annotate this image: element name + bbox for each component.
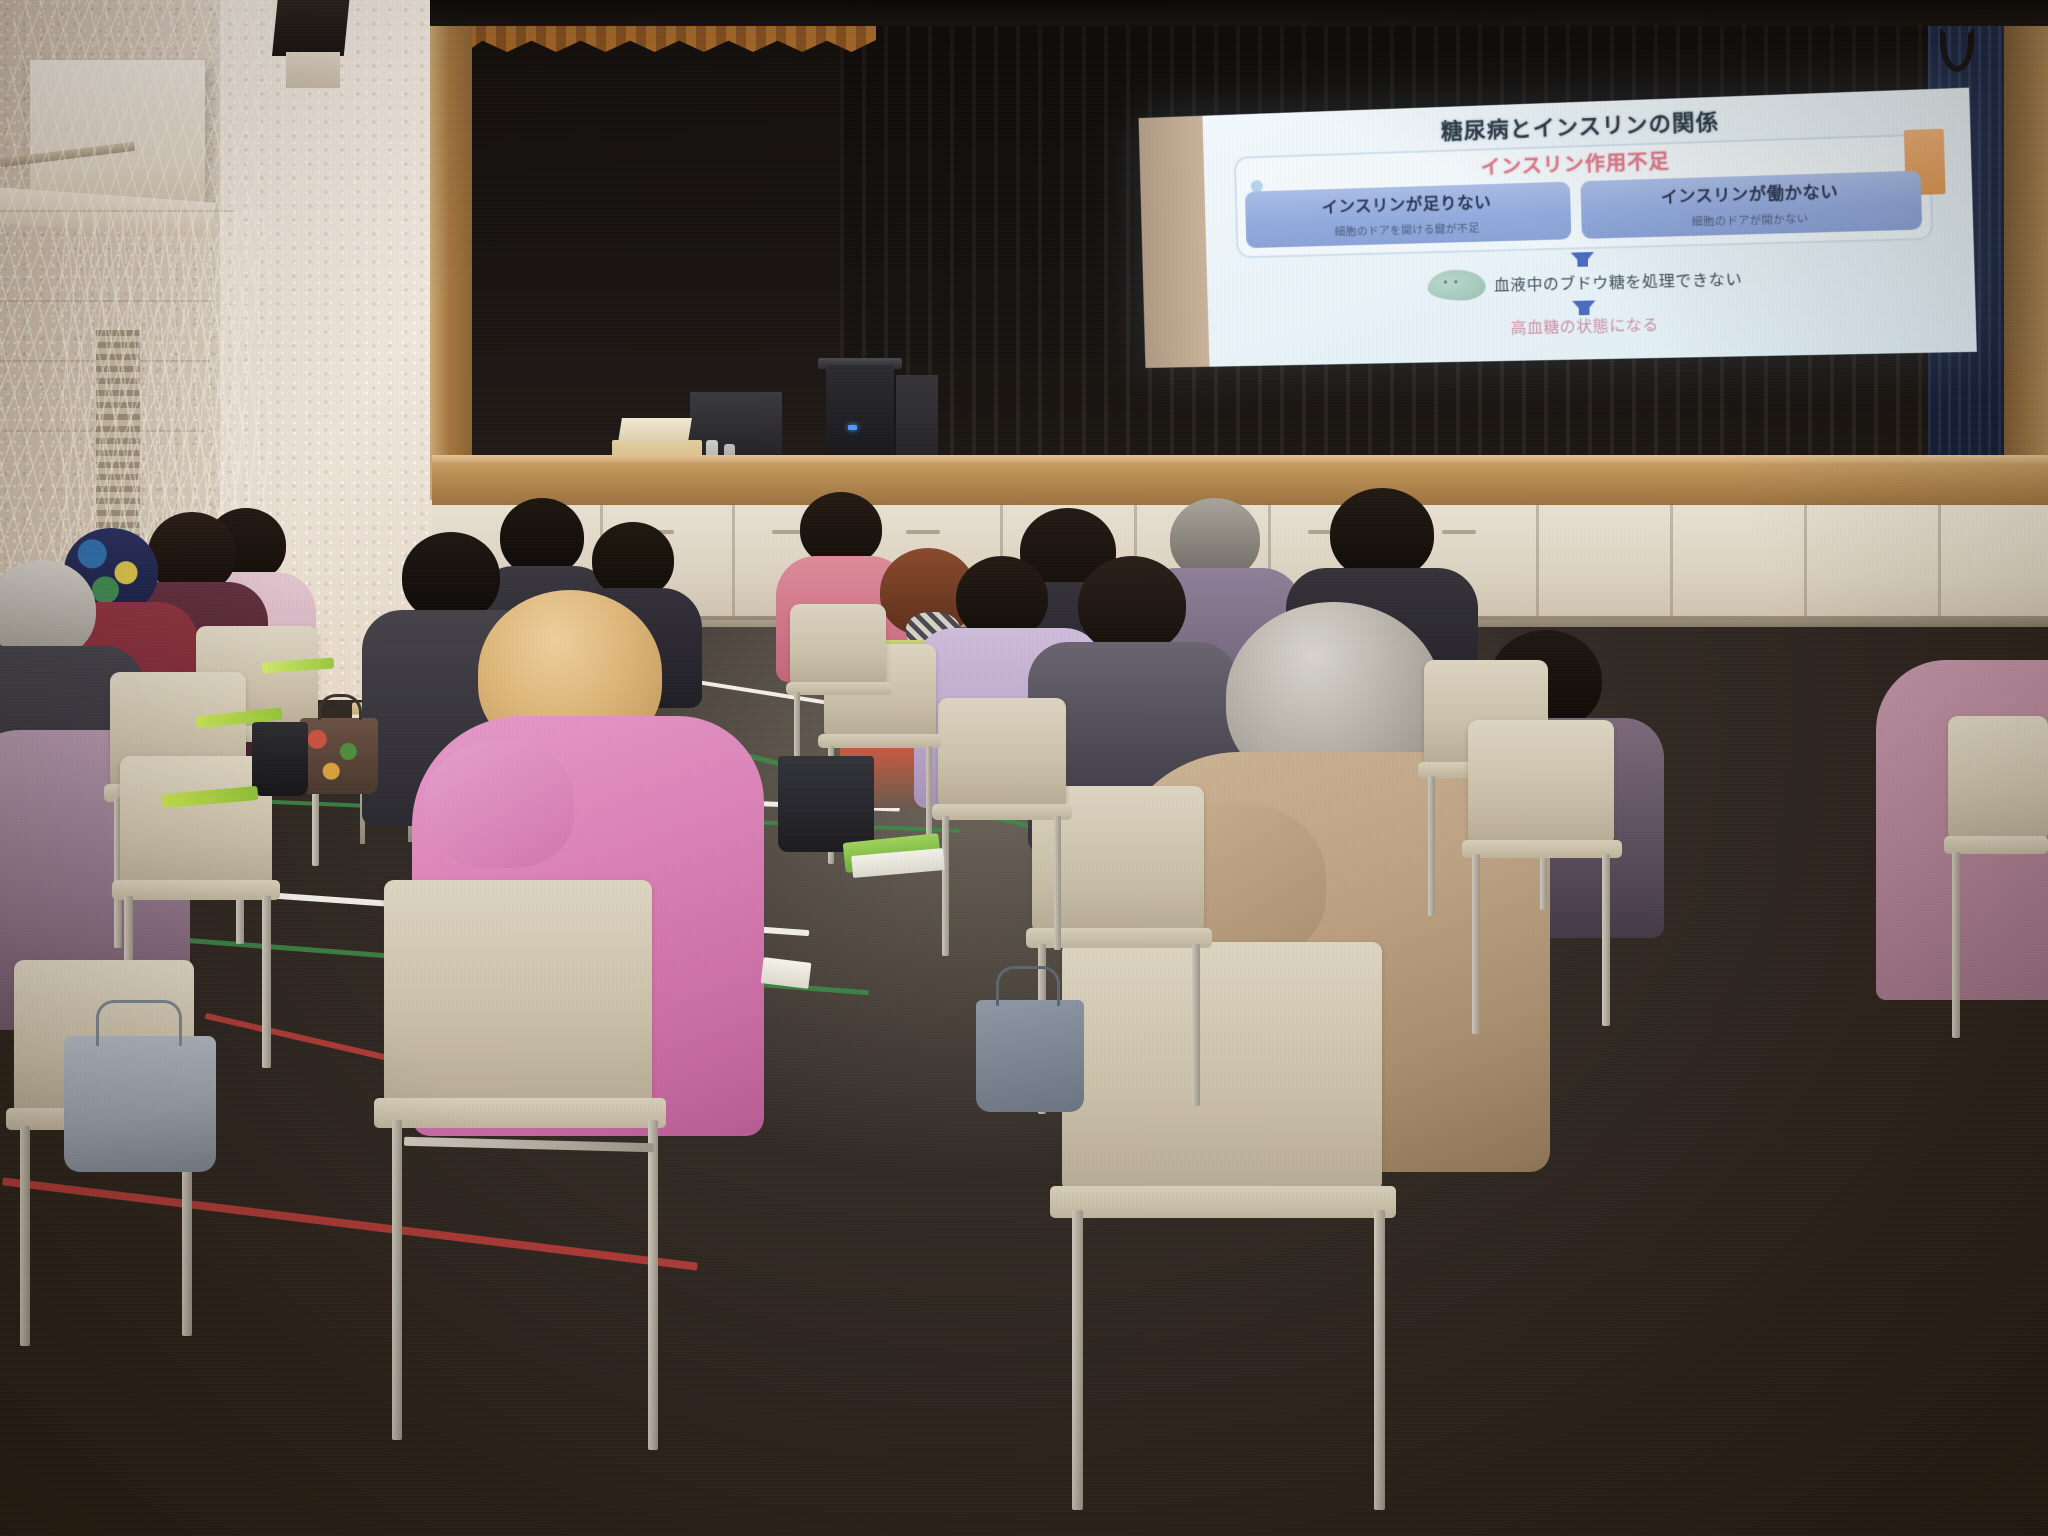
arrow-down-icon (1571, 252, 1595, 266)
chip-1-main: インスリンが足りない (1249, 186, 1566, 220)
screen-shadow-band (1139, 116, 1210, 368)
handbag-right[interactable] (976, 1000, 1084, 1112)
pa-speaker-icon (272, 0, 350, 56)
stage-wood-trim-left (430, 0, 472, 500)
flow-text-2: 高血糖の状態になる (1510, 313, 1659, 338)
slide-chip-2: インスリンが働かない 細胞のドアが開かない (1580, 171, 1922, 239)
stage-apron-highlight (432, 455, 2048, 463)
cabinet-handle[interactable] (906, 530, 940, 534)
power-led-icon (848, 425, 857, 430)
chip-1-sub: 細胞のドアを開ける鍵が不足 (1250, 218, 1567, 242)
projection-screen: 糖尿病とインスリンの関係 インスリン作用不足 インスリンが足りない 細胞のドアを… (1139, 88, 1977, 368)
handbag-right-handle[interactable] (996, 966, 1060, 1006)
tote-handle[interactable] (318, 694, 362, 720)
flow-text-1: 血液中のブドウ糖を処理できない (1494, 267, 1743, 295)
cabinet-divider (1670, 505, 1673, 623)
handbag[interactable] (64, 1036, 216, 1172)
slide-content: 糖尿病とインスリンの関係 インスリン作用不足 インスリンが足りない 細胞のドアを… (1202, 88, 1976, 367)
dark-tote-bag[interactable] (252, 722, 308, 796)
stage-header-beam (430, 0, 2048, 26)
black-panel (690, 392, 782, 456)
floral-tote-bag[interactable] (300, 718, 378, 794)
handbag-handle[interactable] (96, 1000, 182, 1046)
cabinet-divider (1938, 505, 1941, 623)
stage-wood-trim-right (2004, 0, 2048, 470)
cabinet-divider (732, 505, 735, 623)
pa-speaker-bracket (286, 52, 340, 88)
dark-tote-bag-2[interactable] (778, 756, 874, 852)
cabinet-divider (1804, 505, 1807, 623)
slide-inner-box: インスリン作用不足 インスリンが足りない 細胞のドアを開ける鍵が不足 インスリン… (1234, 133, 1934, 258)
chip-2-sub: 細胞のドアが開かない (1586, 208, 1918, 233)
arrow-down-icon-2 (1572, 300, 1596, 314)
chip-2-main: インスリンが働かない (1585, 175, 1917, 210)
cabinet-handle[interactable] (1442, 530, 1476, 534)
pancreas-icon (1427, 269, 1486, 301)
slide-chip-1: インスリンが足りない 細胞のドアを開ける鍵が不足 (1245, 182, 1572, 249)
seminar-photo-scene: 糖尿病とインスリンの関係 インスリン作用不足 インスリンが足りない 細胞のドアを… (0, 0, 2048, 1536)
cabinet-divider (1536, 505, 1539, 623)
